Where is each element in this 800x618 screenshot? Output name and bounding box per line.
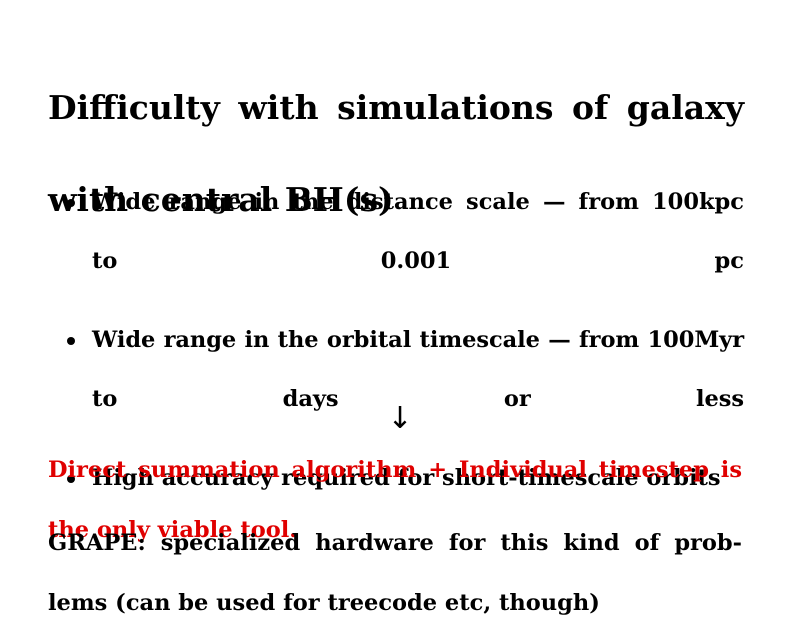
bullet-list: Wide range in the distance scale — from … bbox=[64, 188, 744, 494]
bullet-dot-icon bbox=[67, 337, 75, 345]
bullet-dot-icon bbox=[67, 199, 75, 207]
page-title-line-1: Difficulty with simulations of galaxy bbox=[48, 85, 744, 177]
down-arrow-icon: ↓ bbox=[0, 402, 800, 436]
conclusion-highlight-line-1: Direct summation algorithm + Individual … bbox=[48, 455, 742, 515]
conclusion-note-text: GRAPE: specialized hardware for this kin… bbox=[48, 528, 742, 618]
conclusion-note-line-2: lems (can be used for treecode etc, thou… bbox=[48, 588, 742, 618]
list-item: Wide range in the distance scale — from … bbox=[64, 188, 744, 306]
slide-canvas: Difficulty with simulations of galaxy wi… bbox=[0, 0, 800, 600]
conclusion-note-line-1: GRAPE: specialized hardware for this kin… bbox=[48, 528, 742, 588]
list-item-line-1: Wide range in the distance scale — from … bbox=[92, 188, 744, 247]
list-item-line-2: to 0.001 pc bbox=[92, 247, 744, 306]
list-item-line-1: Wide range in the orbital timescale — fr… bbox=[92, 326, 744, 385]
